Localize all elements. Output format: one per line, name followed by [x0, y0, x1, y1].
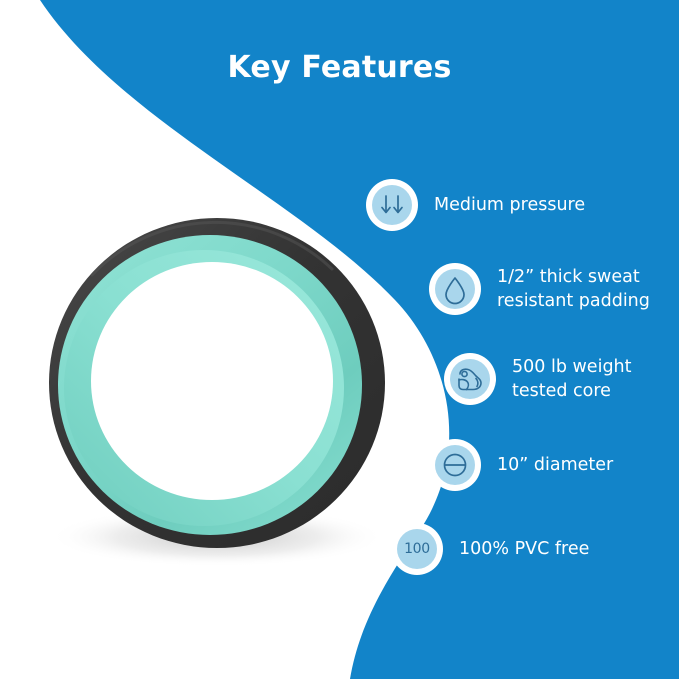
double-down-arrow-icon: [372, 185, 412, 225]
feature-label: 500 lb weight tested core: [512, 355, 632, 403]
flexed-bicep-icon: [450, 359, 490, 399]
icon-ring: [429, 439, 481, 491]
hundred-badge-icon: 100: [397, 529, 437, 569]
key-features-infographic: Key Features: [0, 0, 679, 679]
icon-ring: 100: [391, 523, 443, 575]
feature-label: Medium pressure: [434, 193, 585, 217]
icon-ring: [429, 263, 481, 315]
feature-item-pvc-free[interactable]: 100 100% PVC free: [391, 523, 589, 575]
feature-item-diameter[interactable]: 10” diameter: [429, 439, 613, 491]
icon-ring: [366, 179, 418, 231]
feature-item-padding[interactable]: 1/2” thick sweat resistant padding: [429, 263, 650, 315]
water-drop-icon: [435, 269, 475, 309]
feature-label: 10” diameter: [497, 453, 613, 477]
feature-item-medium-pressure[interactable]: Medium pressure: [366, 179, 585, 231]
circle-diameter-icon: [435, 445, 475, 485]
icon-ring: [444, 353, 496, 405]
feature-label: 1/2” thick sweat resistant padding: [497, 265, 650, 313]
feature-label: 100% PVC free: [459, 537, 589, 561]
hundred-badge-text: 100: [404, 541, 430, 557]
feature-item-weight-tested[interactable]: 500 lb weight tested core: [444, 353, 632, 405]
feature-list: Medium pressure 1/2” thick sweat resista…: [0, 0, 679, 679]
